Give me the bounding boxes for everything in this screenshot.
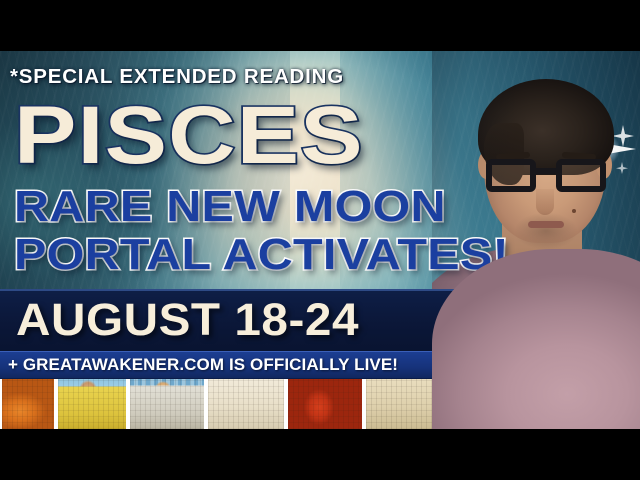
tarot-card-ten-of-swords — [206, 379, 286, 429]
tarot-card-emperor — [56, 379, 128, 429]
kicker-text: *SPECIAL EXTENDED READING — [10, 65, 344, 89]
headline-line-1: RARE NEW MOON — [14, 184, 446, 230]
tarot-card-two-of-cups — [286, 379, 364, 429]
headline-line-2: PORTAL ACTIVATES! — [14, 232, 509, 278]
tarot-card-linework — [366, 379, 438, 429]
tarot-card-strength — [0, 379, 56, 429]
tarot-card-hermit — [128, 379, 206, 429]
tarot-card-linework — [2, 379, 54, 429]
tarot-card-linework — [130, 379, 204, 429]
thumbnail-content-area: *SPECIAL EXTENDED READING PISCES RARE NE… — [0, 51, 640, 429]
sign-title: PISCES — [14, 95, 364, 177]
tarot-card-linework — [288, 379, 362, 429]
presenter-foreground-overlap — [432, 379, 640, 429]
tarot-card-linework — [208, 379, 284, 429]
tarot-card-hierophant — [364, 379, 440, 429]
promo-bar-text: + GREATAWAKENER.COM IS OFFICIALLY LIVE! — [8, 354, 398, 376]
tarot-card-linework — [58, 379, 126, 429]
video-thumbnail: *SPECIAL EXTENDED READING PISCES RARE NE… — [0, 0, 640, 480]
date-range-text: AUGUST 18-24 — [16, 295, 359, 345]
